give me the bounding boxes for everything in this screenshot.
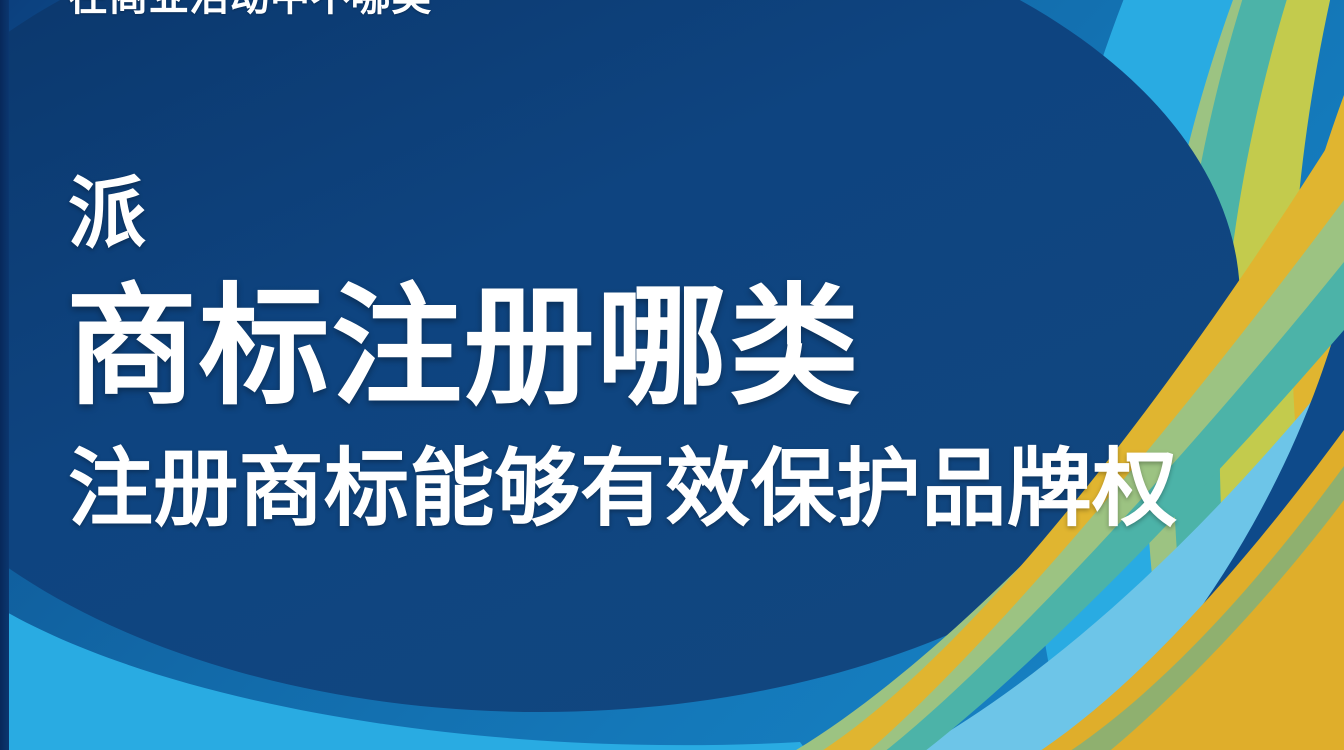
brand-glyph: 派 bbox=[68, 172, 147, 254]
poster-canvas: 在商业活动中不哪类 派 商标注册哪类 注册商标能够有效保护品牌权 bbox=[0, 0, 1344, 750]
kicker-clip-region: 在商业活动中不哪类 bbox=[0, 0, 1344, 24]
text-content-layer: 在商业活动中不哪类 派 商标注册哪类 注册商标能够有效保护品牌权 bbox=[0, 0, 1344, 750]
subtitle: 注册商标能够有效保护品牌权 bbox=[68, 442, 1177, 538]
page-title: 商标注册哪类 bbox=[66, 272, 861, 422]
kicker-line-clipped: 在商业活动中不哪类 bbox=[68, 0, 432, 19]
